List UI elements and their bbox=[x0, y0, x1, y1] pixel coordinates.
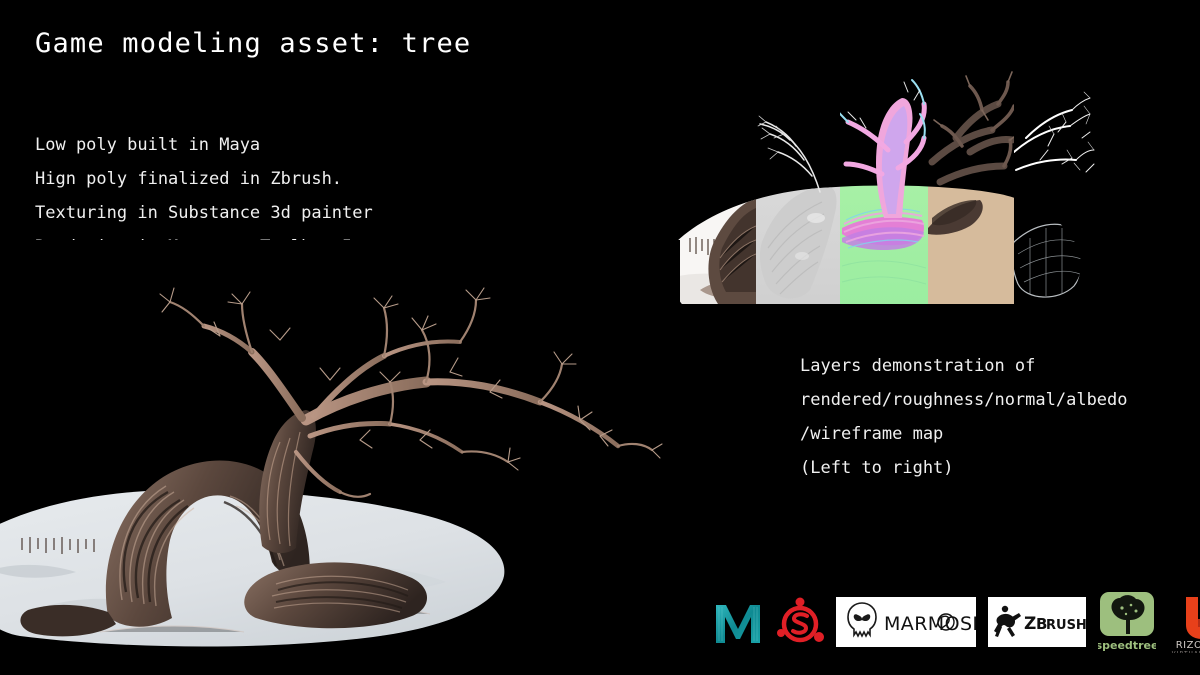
caption-line: (Left to right) bbox=[800, 451, 1128, 485]
layers-caption-block: Layers demonstration of rendered/roughne… bbox=[800, 349, 1128, 485]
svg-text:speedtree: speedtree bbox=[1098, 639, 1156, 652]
logo-rizomuv[interactable]: RIZOM UV VIRTUAL SPACES bbox=[1168, 591, 1200, 653]
substance-icon bbox=[776, 595, 824, 649]
svg-text:Z: Z bbox=[1024, 614, 1036, 634]
description-line: Texturing in Substance 3d painter bbox=[35, 196, 373, 230]
speedtree-icon: speedtree bbox=[1098, 590, 1156, 654]
software-logo-row: MARMOSET Z B RUSH bbox=[712, 588, 1200, 656]
logo-maya[interactable] bbox=[712, 595, 764, 649]
slide-canvas: Game modeling asset: tree Low poly built… bbox=[0, 0, 1200, 675]
description-line: Hign poly finalized in Zbrush. bbox=[35, 162, 373, 196]
description-line: Low poly built in Maya bbox=[35, 128, 373, 162]
zbrush-icon: Z B RUSH bbox=[988, 597, 1086, 647]
logo-zbrush[interactable]: Z B RUSH bbox=[988, 597, 1086, 647]
layer-strip-image bbox=[670, 42, 1096, 316]
svg-text:VIRTUAL SPACES: VIRTUAL SPACES bbox=[1172, 651, 1200, 653]
page-title: Game modeling asset: tree bbox=[35, 28, 471, 59]
svg-text:MARMOSET: MARMOSET bbox=[884, 613, 976, 635]
rizomuv-icon: RIZOM UV VIRTUAL SPACES bbox=[1168, 591, 1200, 653]
caption-line: /wireframe map bbox=[800, 417, 1128, 451]
maya-icon bbox=[712, 595, 764, 649]
logo-marmoset[interactable]: MARMOSET bbox=[836, 597, 976, 647]
hero-image bbox=[0, 240, 680, 675]
tree-beauty-render bbox=[0, 240, 680, 675]
caption-line: rendered/roughness/normal/albedo bbox=[800, 383, 1128, 417]
logo-speedtree[interactable]: speedtree bbox=[1098, 590, 1156, 654]
texture-layer-strip bbox=[670, 42, 1096, 316]
logo-substance[interactable] bbox=[776, 595, 824, 649]
marmoset-icon: MARMOSET bbox=[836, 597, 976, 647]
caption-line: Layers demonstration of bbox=[800, 349, 1128, 383]
svg-text:RIZOM UV: RIZOM UV bbox=[1176, 640, 1200, 651]
svg-text:RUSH: RUSH bbox=[1046, 618, 1086, 633]
